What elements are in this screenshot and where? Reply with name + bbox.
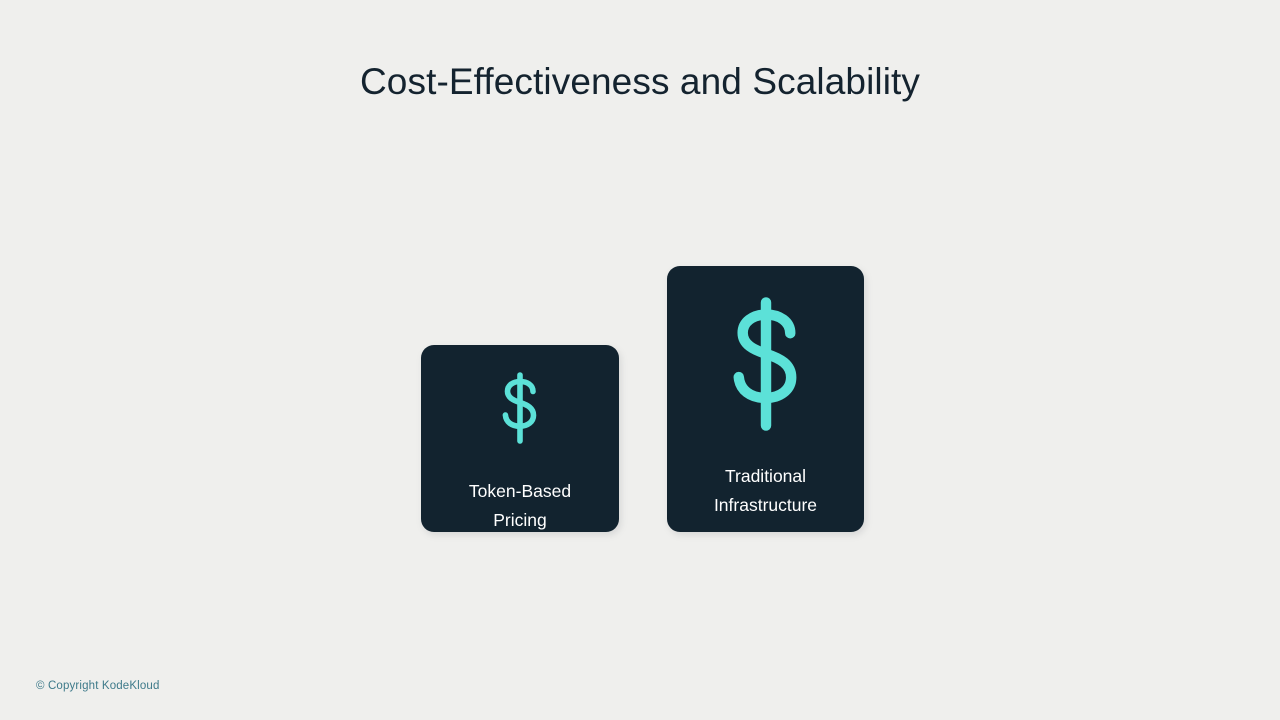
card-label: Token-Based Pricing <box>421 477 619 535</box>
dollar-sign-icon <box>497 371 543 445</box>
card-label-line2: Infrastructure <box>714 495 817 515</box>
footer-copyright: © Copyright KodeKloud <box>36 678 160 694</box>
card-traditional-infrastructure[interactable]: Traditional Infrastructure <box>667 266 864 532</box>
dollar-sign-icon <box>723 295 809 433</box>
card-icon-container <box>723 292 809 436</box>
card-label-line1: Traditional <box>725 466 806 486</box>
card-icon-container <box>497 371 543 445</box>
comparison-card-row: Token-Based Pricing Traditional Infrastr… <box>421 266 865 532</box>
card-label-line2: Pricing <box>493 510 547 530</box>
card-label-line1: Token-Based <box>469 481 571 501</box>
card-token-based-pricing[interactable]: Token-Based Pricing <box>421 345 619 532</box>
card-label: Traditional Infrastructure <box>667 462 864 520</box>
page-title: Cost-Effectiveness and Scalability <box>0 56 1280 108</box>
